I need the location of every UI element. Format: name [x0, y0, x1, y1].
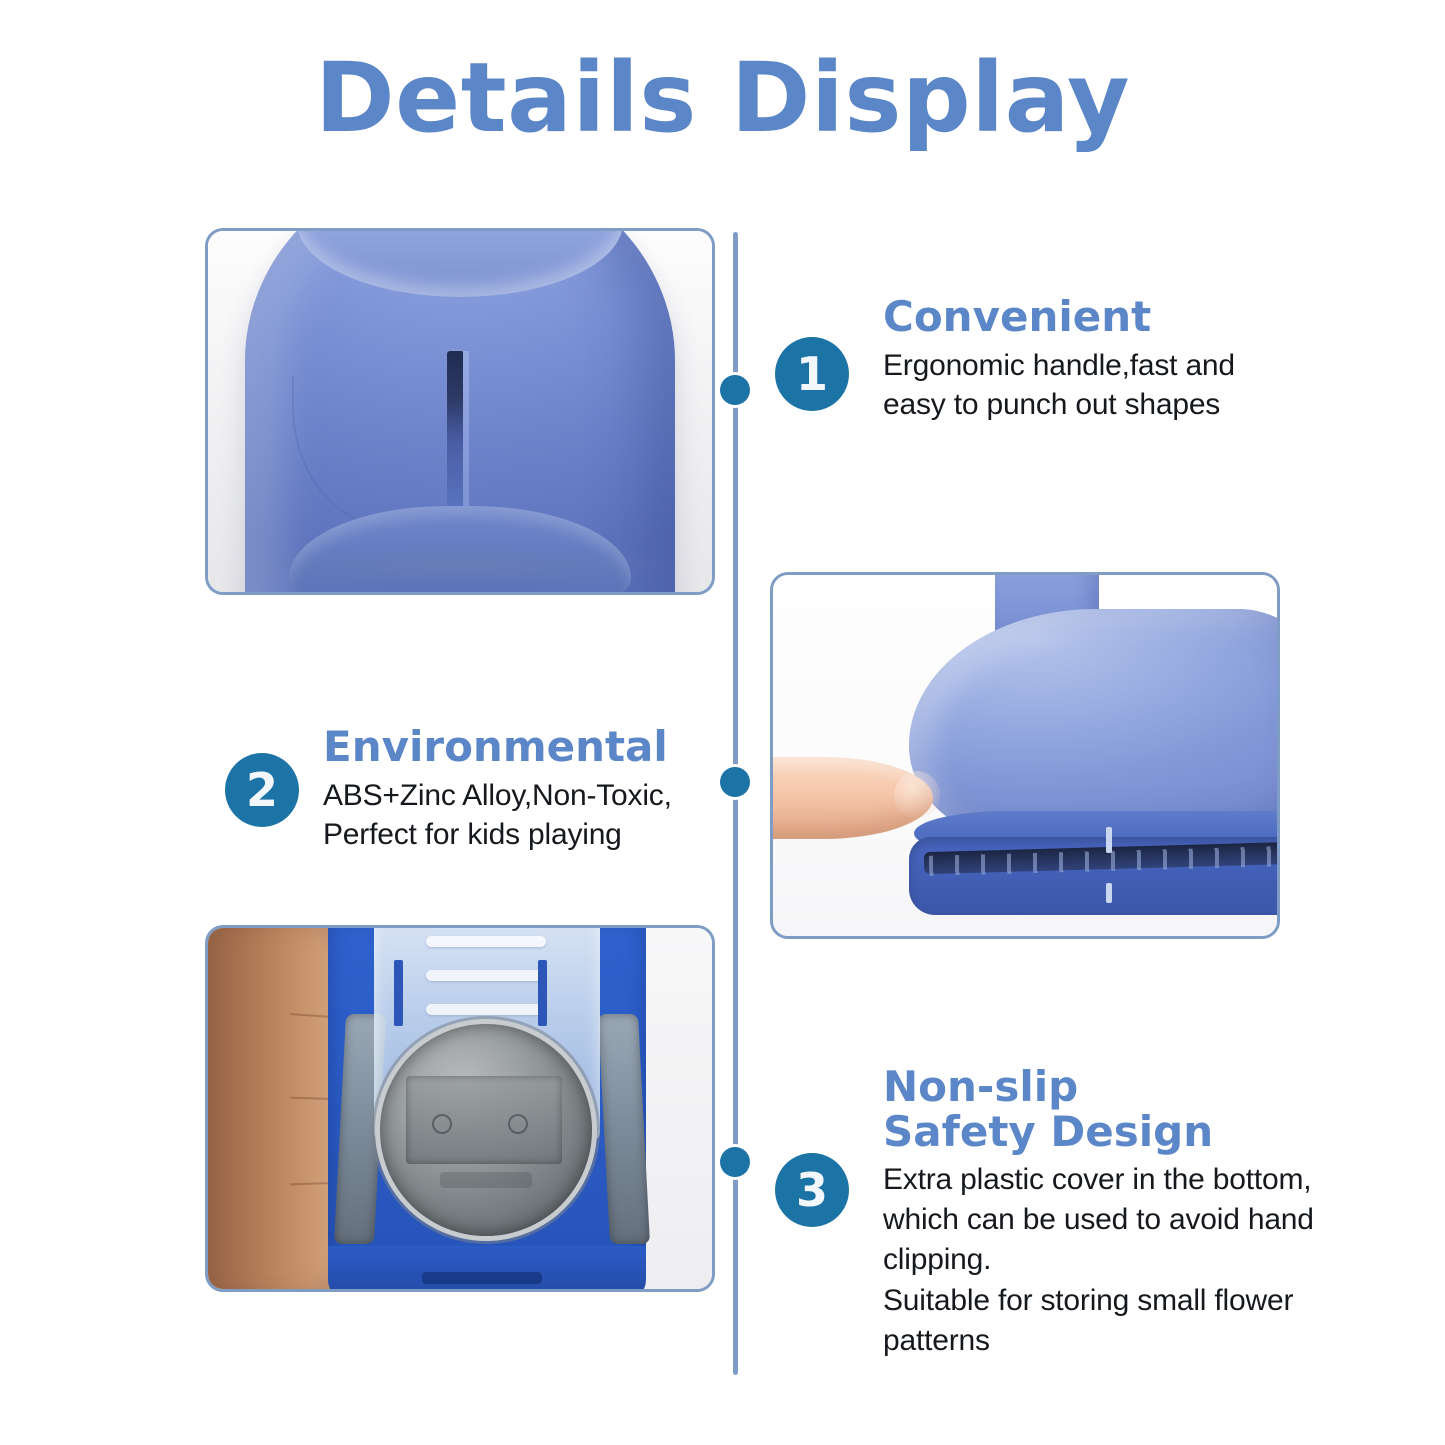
cover-rib-2	[426, 970, 546, 981]
feature-body-3: Extra plastic cover in the bottom, which…	[883, 1160, 1335, 1361]
feature-block-2: 2 Environmental ABS+Zinc Alloy,Non-Toxic…	[225, 725, 725, 854]
infographic-page: Details Display	[0, 0, 1445, 1445]
cover-tab-right	[538, 960, 547, 1026]
cover-tab-left	[394, 960, 403, 1026]
feature-text-2: Environmental ABS+Zinc Alloy,Non-Toxic, …	[323, 725, 725, 854]
feature-number-badge-3: 3	[775, 1153, 849, 1227]
photo-3-content	[208, 928, 712, 1289]
feature-body-1: Ergonomic handle,fast and easy to punch …	[883, 346, 1295, 424]
feature-text-1: Convenient Ergonomic handle,fast and eas…	[883, 295, 1295, 424]
die-mark-2	[508, 1114, 528, 1134]
timeline-dot-3	[720, 1147, 750, 1177]
feature-block-3: 3 Non-slip Safety Design Extra plastic c…	[775, 1065, 1335, 1361]
finger-highlight	[894, 771, 940, 819]
punch-foot-notch	[422, 1272, 542, 1284]
cover-rib-1	[426, 936, 546, 947]
cover-rib-3	[426, 1004, 546, 1015]
feature-body-2: ABS+Zinc Alloy,Non-Toxic, Perfect for ki…	[323, 776, 725, 854]
photo-1-content	[208, 231, 712, 592]
punch-guide-pin-bottom	[1106, 883, 1112, 903]
punch-guide-pin-top	[1106, 827, 1112, 853]
photo-1-shadow	[248, 546, 671, 586]
timeline-dot-1	[720, 375, 750, 405]
punch-top-rim	[297, 231, 624, 297]
photo-2-content	[773, 575, 1277, 936]
photo-punch-top-closeup	[205, 228, 715, 595]
die-mark-1	[432, 1114, 452, 1134]
die-embossed-plate	[406, 1076, 562, 1164]
photo-finger-pressing-punch	[770, 572, 1280, 939]
feature-heading-2: Environmental	[323, 725, 725, 770]
feature-heading-3: Non-slip Safety Design	[883, 1065, 1335, 1154]
page-title: Details Display	[0, 50, 1445, 146]
die-engraving	[440, 1172, 532, 1188]
feature-text-3: Non-slip Safety Design Extra plastic cov…	[883, 1065, 1335, 1361]
punch-seam-line	[292, 376, 457, 528]
feature-number-badge-1: 1	[775, 337, 849, 411]
feature-number-badge-2: 2	[225, 753, 299, 827]
metal-die-head	[380, 1024, 592, 1236]
feature-heading-1: Convenient	[883, 295, 1295, 340]
photo-hand-holding-punch-base	[205, 925, 715, 1292]
feature-block-1: 1 Convenient Ergonomic handle,fast and e…	[775, 295, 1295, 424]
